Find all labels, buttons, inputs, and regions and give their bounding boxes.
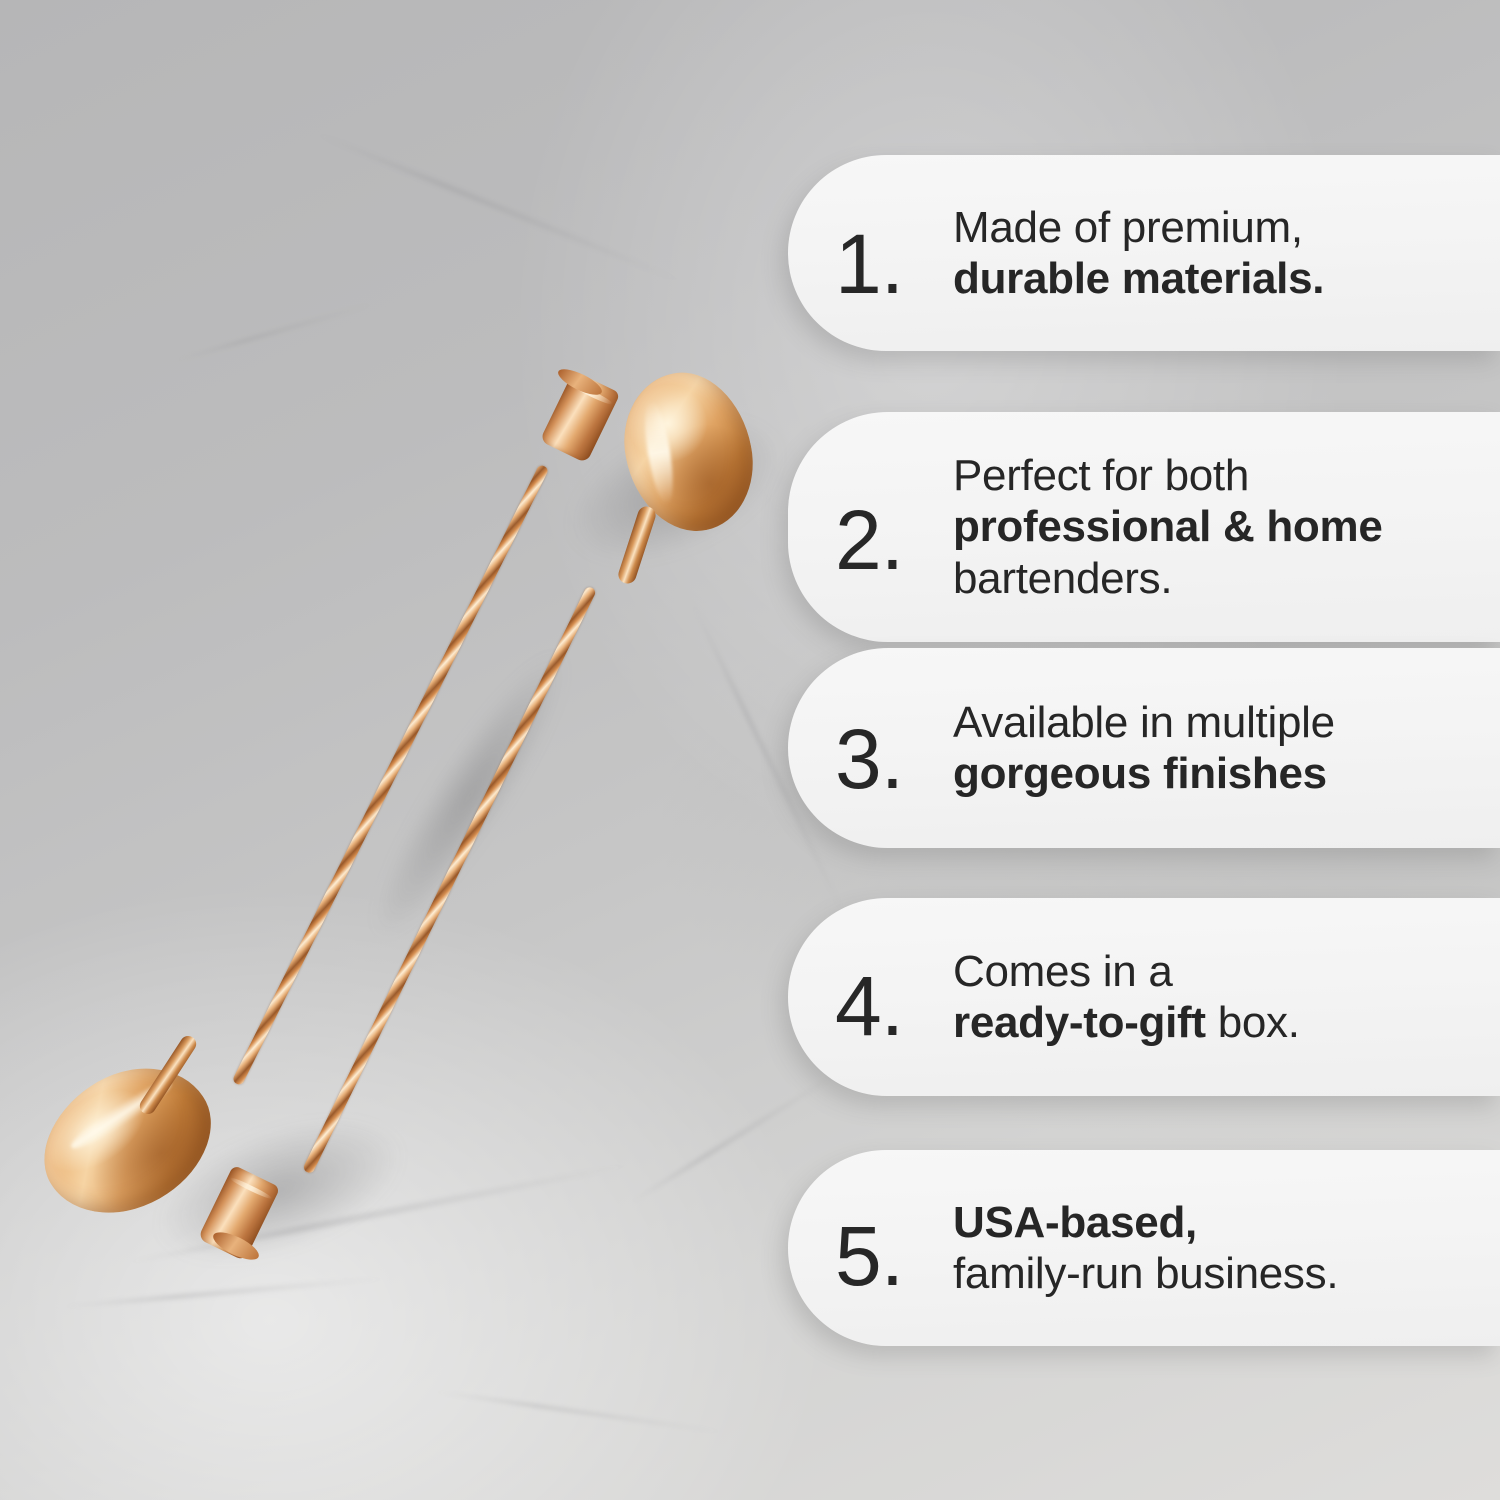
product-infographic: 1. Made of premium, durable materials. 2…: [0, 0, 1500, 1500]
feature-line: Made of premium,: [953, 202, 1500, 253]
feature-text: USA-based, family-run business.: [953, 1197, 1500, 1300]
feature-number: 2.: [835, 472, 953, 582]
feature-text: Perfect for both professional & home bar…: [953, 450, 1500, 604]
feature-list: 1. Made of premium, durable materials. 2…: [0, 0, 1500, 1500]
feature-card-1[interactable]: 1. Made of premium, durable materials.: [788, 155, 1500, 351]
feature-line: USA-based,: [953, 1197, 1500, 1248]
feature-number: 4.: [835, 942, 953, 1052]
feature-line: gorgeous finishes: [953, 748, 1500, 799]
feature-line: bartenders.: [953, 553, 1500, 604]
feature-line: ready-to-gift box.: [953, 997, 1500, 1048]
feature-card-3[interactable]: 3. Available in multiple gorgeous finish…: [788, 648, 1500, 848]
feature-text: Made of premium, durable materials.: [953, 202, 1500, 305]
feature-line-rest: box.: [1206, 998, 1300, 1047]
feature-line: Available in multiple: [953, 697, 1500, 748]
feature-line: family-run business.: [953, 1248, 1500, 1299]
feature-number: 5.: [835, 1194, 953, 1302]
feature-number: 3.: [835, 695, 953, 801]
feature-line: durable materials.: [953, 253, 1500, 304]
feature-line: Perfect for both: [953, 450, 1500, 501]
feature-line: Comes in a: [953, 946, 1500, 997]
feature-line-emphasis: ready-to-gift: [953, 998, 1206, 1047]
feature-card-4[interactable]: 4. Comes in a ready-to-gift box.: [788, 898, 1500, 1096]
feature-number: 1.: [835, 200, 953, 306]
feature-line: professional & home: [953, 501, 1500, 552]
feature-card-2[interactable]: 2. Perfect for both professional & home …: [788, 412, 1500, 642]
feature-text: Available in multiple gorgeous finishes: [953, 697, 1500, 800]
feature-card-5[interactable]: 5. USA-based, family-run business.: [788, 1150, 1500, 1346]
feature-text: Comes in a ready-to-gift box.: [953, 946, 1500, 1049]
